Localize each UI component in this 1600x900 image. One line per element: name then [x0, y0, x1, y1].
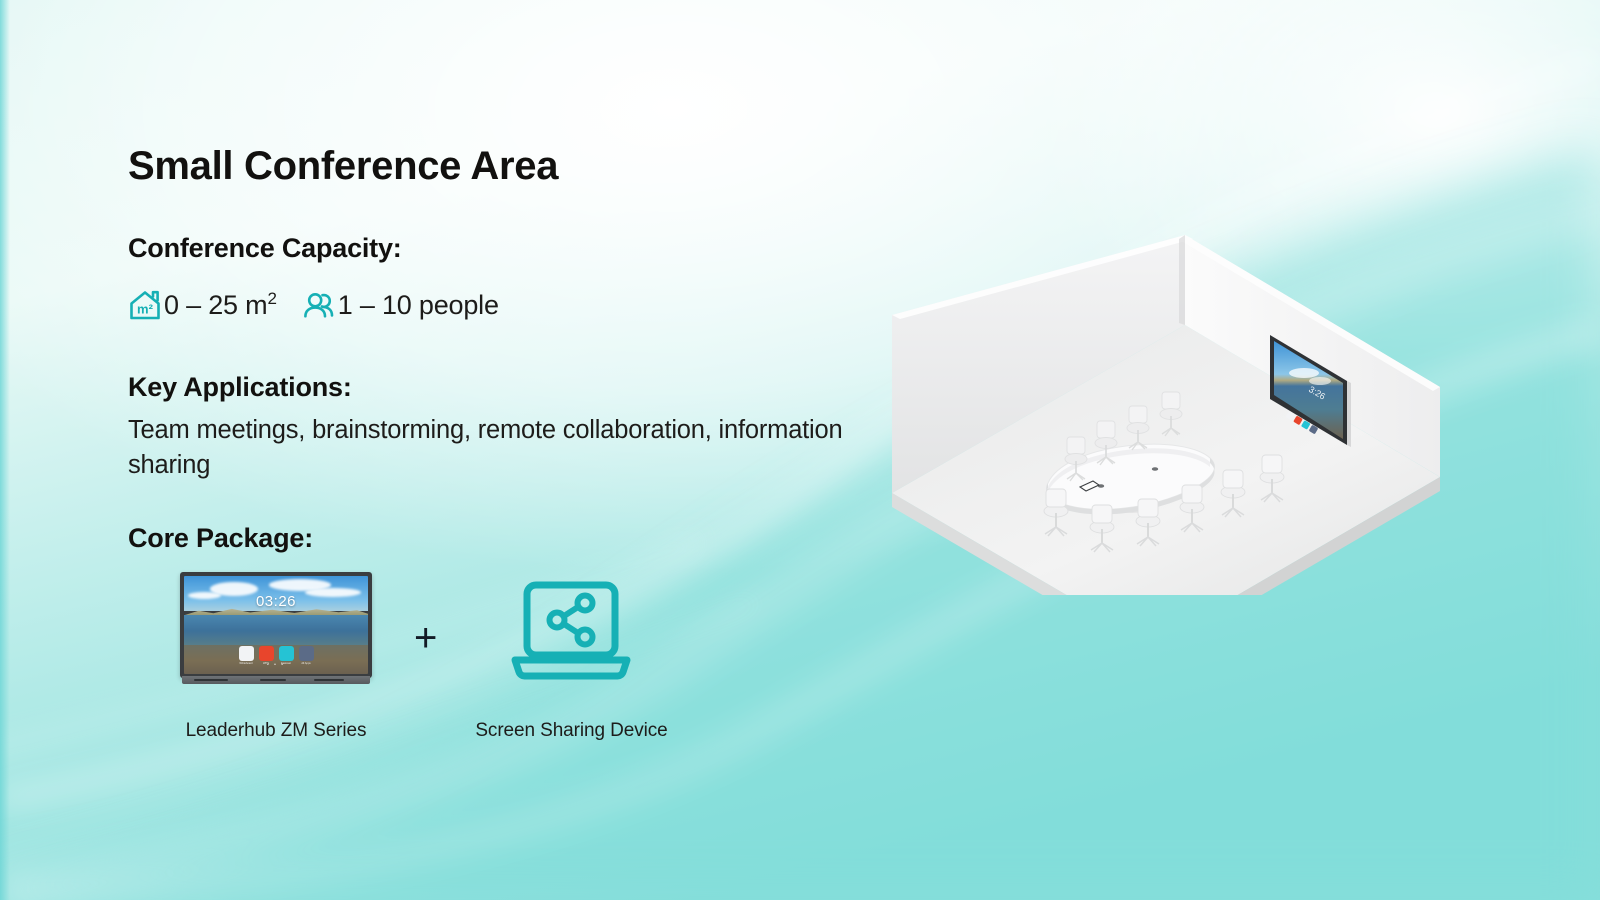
display-clock: 03:26	[184, 593, 368, 610]
display-caption: Leaderhub ZM Series	[186, 720, 367, 742]
applications-heading: Key Applications:	[128, 372, 352, 403]
capacity-people: 1 – 10 people	[300, 286, 499, 324]
screen-share-app-icon[interactable]: Easicast	[279, 646, 294, 661]
page-title: Small Conference Area	[128, 144, 558, 189]
display-app-dock: Whiteboard WPS Easicast All Apps	[184, 646, 368, 661]
display-page-dots: • • •	[184, 662, 368, 668]
wps-office-app-icon[interactable]: WPS	[259, 646, 274, 661]
leaderhub-display-image: 03:26 Whiteboard WPS Easicast	[180, 572, 372, 686]
display-screen: 03:26 Whiteboard WPS Easicast	[184, 576, 368, 674]
display-bottom-bar	[182, 676, 370, 684]
capacity-area: m² 0 – 25 m2	[126, 286, 277, 324]
laptop-share-icon	[505, 572, 637, 684]
package-heading: Core Package:	[128, 523, 313, 554]
capacity-row: m² 0 – 25 m2 1 – 10 people	[126, 285, 499, 325]
house-area-icon: m²	[126, 286, 164, 324]
house-icon-label: m²	[137, 301, 154, 316]
area-unit-superscript: 2	[267, 289, 276, 308]
isometric-conference-room: 3:26	[880, 215, 1480, 595]
screen-water	[184, 615, 368, 646]
display-bezel: 03:26 Whiteboard WPS Easicast	[180, 572, 372, 678]
package-item-sharing[interactable]: Screen Sharing Device	[475, 572, 667, 742]
whiteboard-app-icon[interactable]: Whiteboard	[239, 646, 254, 661]
applications-body: Team meetings, brainstorming, remote col…	[128, 413, 868, 483]
two-people-icon	[300, 286, 338, 324]
sharing-device-caption: Screen Sharing Device	[475, 720, 667, 742]
package-item-display[interactable]: 03:26 Whiteboard WPS Easicast	[180, 572, 372, 742]
plus-separator: +	[414, 618, 437, 658]
all-apps-icon[interactable]: All Apps	[299, 646, 314, 661]
share-nodes-icon	[550, 596, 593, 645]
capacity-people-value: 1 – 10 people	[338, 292, 499, 319]
capacity-area-value: 0 – 25 m2	[164, 292, 277, 319]
capacity-heading: Conference Capacity:	[128, 233, 402, 264]
package-row: 03:26 Whiteboard WPS Easicast	[180, 572, 668, 742]
